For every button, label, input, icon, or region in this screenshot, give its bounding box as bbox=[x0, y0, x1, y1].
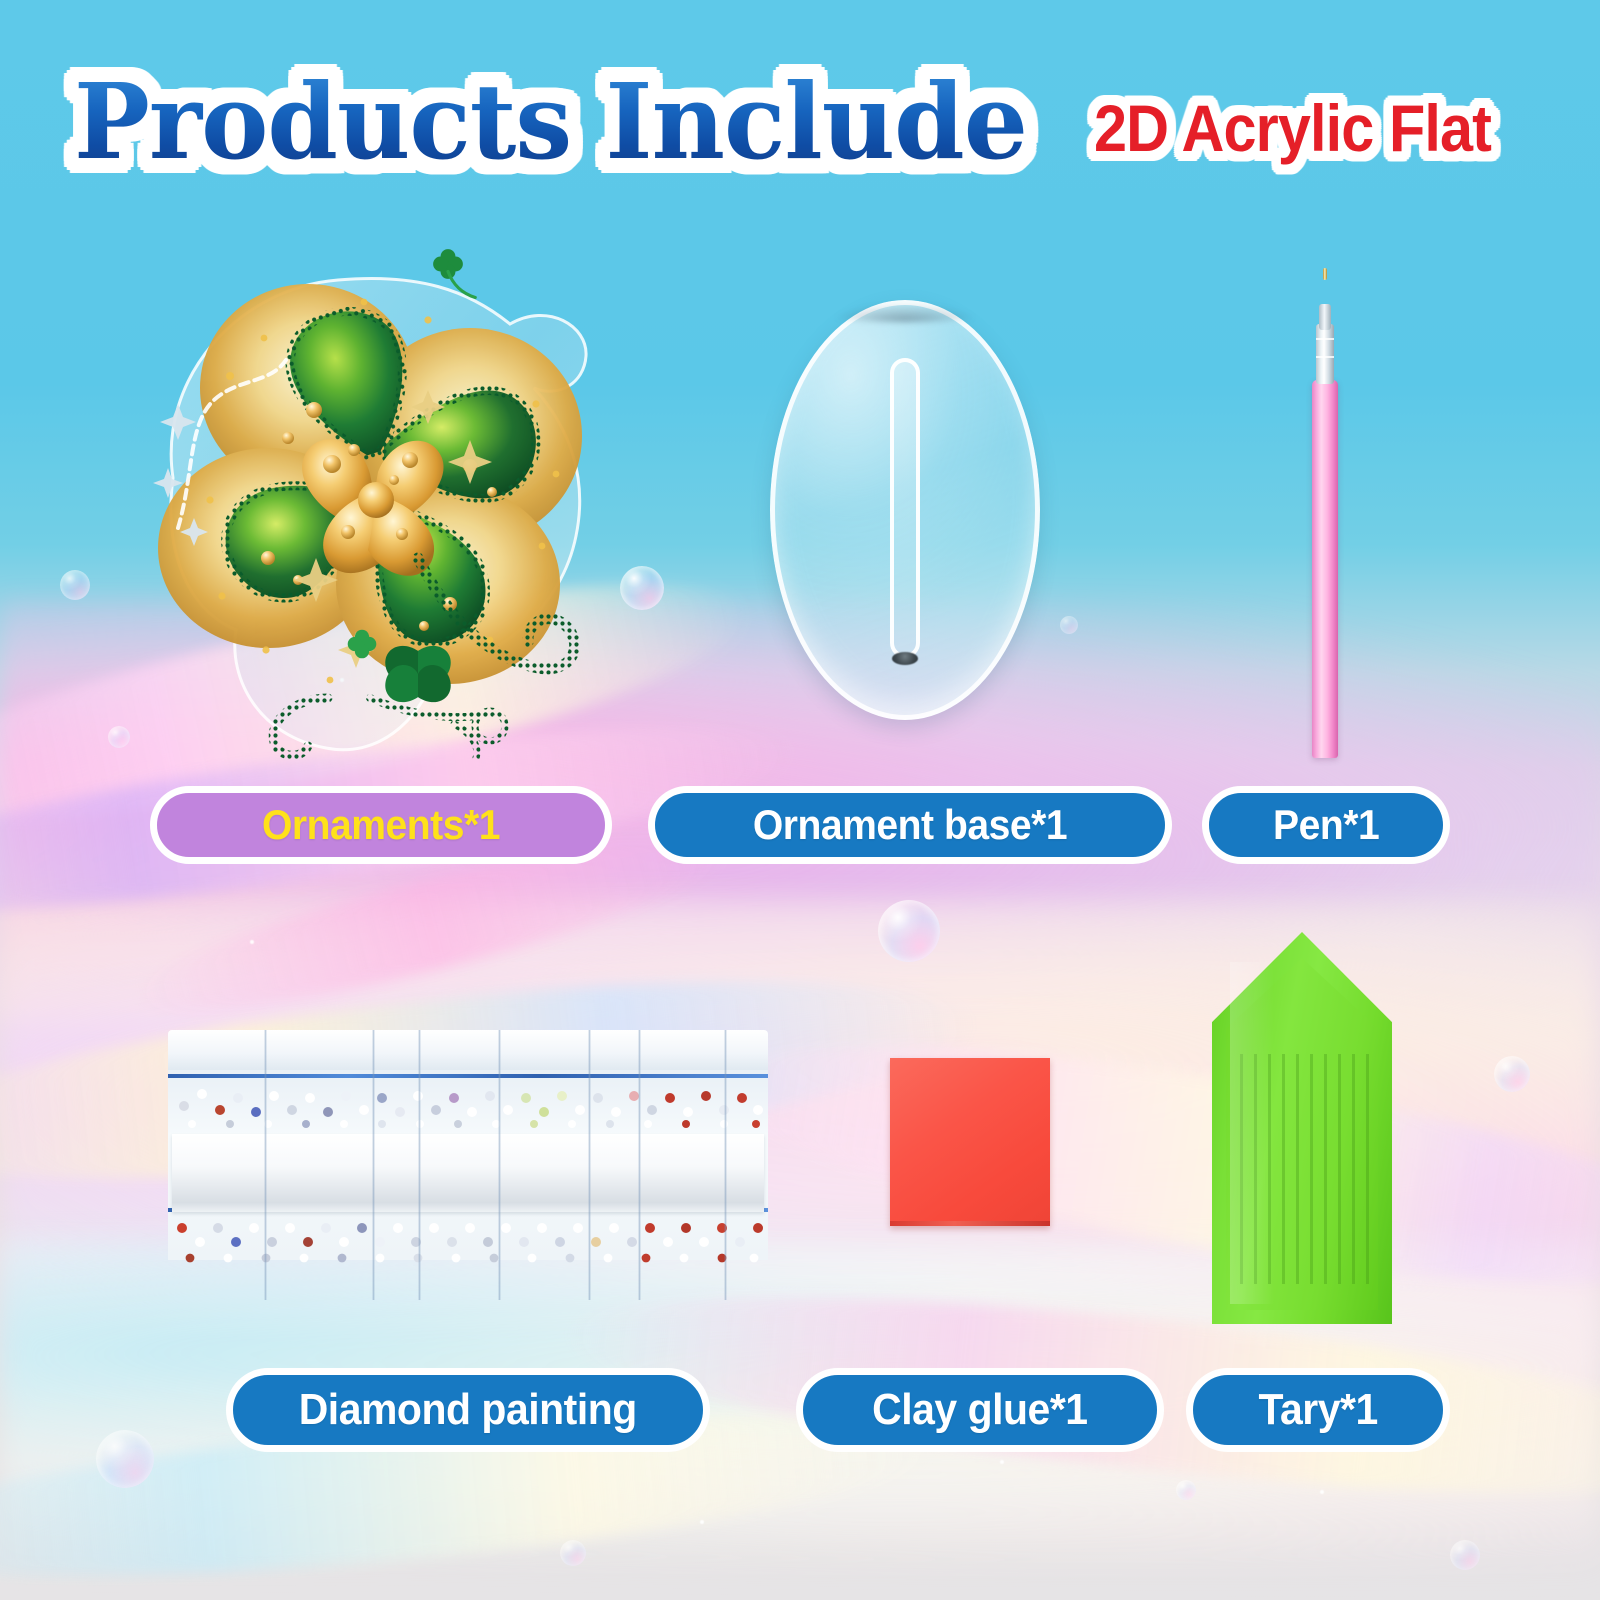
clay-glue-image bbox=[890, 1058, 1050, 1226]
background-bubble bbox=[878, 900, 940, 962]
label-tary[interactable]: Tary*1 bbox=[1186, 1368, 1450, 1452]
background-sparkle bbox=[1320, 1490, 1324, 1494]
background-bubble bbox=[96, 1430, 154, 1488]
label-ornaments-text: Ornaments*1 bbox=[262, 801, 500, 849]
label-diamond-painting[interactable]: Diamond painting bbox=[226, 1368, 710, 1452]
background-bubble bbox=[1176, 1480, 1196, 1500]
diamond-painting-image bbox=[168, 1030, 768, 1300]
tray-image bbox=[1212, 932, 1392, 1324]
base-slot bbox=[890, 358, 920, 658]
bag-separator bbox=[418, 1030, 421, 1300]
rhinestones-upper bbox=[168, 1076, 768, 1134]
bag-separator bbox=[724, 1030, 727, 1300]
background-sparkle bbox=[700, 1520, 704, 1524]
label-clay-glue[interactable]: Clay glue*1 bbox=[796, 1368, 1164, 1452]
bag-separator bbox=[372, 1030, 375, 1300]
header-title-row: Products Include 2D Acrylic Flat bbox=[0, 52, 1600, 192]
label-ornaments[interactable]: Ornaments*1 bbox=[150, 786, 612, 864]
background-bubble bbox=[60, 570, 90, 600]
label-tary-text: Tary*1 bbox=[1258, 1385, 1377, 1435]
background-bubble bbox=[1494, 1056, 1530, 1092]
bag-separator bbox=[588, 1030, 591, 1300]
label-pen-text: Pen*1 bbox=[1273, 801, 1379, 849]
background-bubble bbox=[560, 1540, 586, 1566]
background-sparkle bbox=[250, 940, 254, 944]
bag-separator bbox=[264, 1030, 267, 1300]
clay-glue-edge bbox=[890, 1221, 1050, 1226]
page-title: Products Include bbox=[74, 70, 1027, 174]
infographic-canvas: Products Include 2D Acrylic Flat bbox=[0, 0, 1600, 1600]
label-clay-glue-text: Clay glue*1 bbox=[872, 1385, 1087, 1435]
pen-image bbox=[1312, 268, 1338, 758]
rhinestones-lower bbox=[168, 1212, 768, 1274]
page-subtitle: 2D Acrylic Flat bbox=[1094, 95, 1491, 161]
base-hole bbox=[892, 652, 918, 665]
pen-ferrule bbox=[1316, 324, 1334, 384]
label-pen[interactable]: Pen*1 bbox=[1202, 786, 1450, 864]
ornaments-image bbox=[118, 228, 648, 788]
tray-highlight bbox=[1230, 962, 1274, 1304]
bag-separator bbox=[638, 1030, 641, 1300]
background-sparkle bbox=[1000, 1460, 1004, 1464]
clear-acrylic-oval-icon bbox=[770, 300, 1040, 720]
label-ornament-base[interactable]: Ornament base*1 bbox=[648, 786, 1172, 864]
background-bubble bbox=[1450, 1540, 1480, 1570]
four-leaf-clover-icon bbox=[118, 228, 648, 788]
bag-white-label bbox=[172, 1134, 764, 1212]
base-top-shadow bbox=[800, 296, 1010, 322]
background-bubble bbox=[1060, 616, 1078, 634]
label-diamond-painting-text: Diamond painting bbox=[299, 1385, 637, 1435]
pen-tip-point bbox=[1323, 268, 1327, 280]
bag-separator bbox=[498, 1030, 501, 1300]
label-ornament-base-text: Ornament base*1 bbox=[753, 801, 1067, 849]
bag-crimped-top bbox=[168, 1030, 768, 1072]
pen-body bbox=[1312, 380, 1338, 758]
